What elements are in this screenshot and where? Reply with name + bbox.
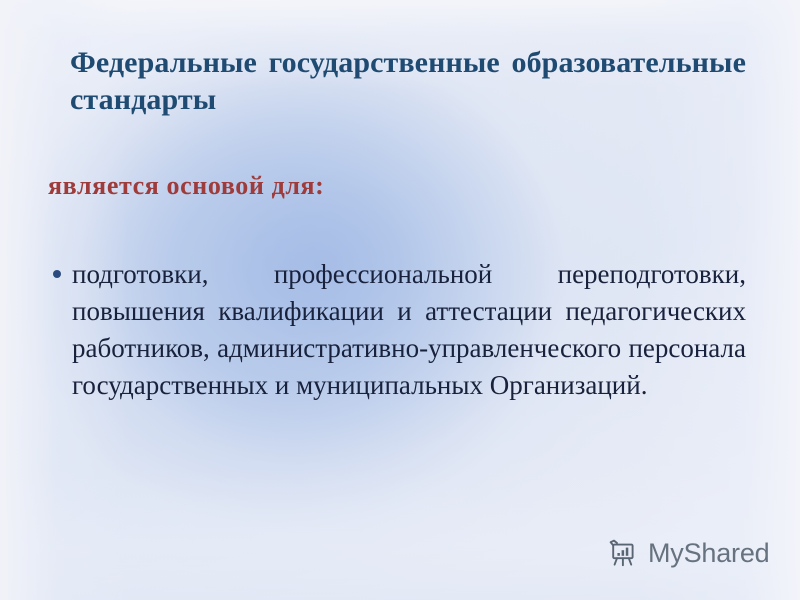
list-item-text: подготовки, профессиональной переподгото… bbox=[72, 256, 746, 404]
myshared-watermark: MyShared bbox=[606, 536, 769, 570]
slide-canvas: Федеральные государственные образователь… bbox=[0, 0, 800, 600]
slide-subtitle: является основой для: bbox=[48, 170, 324, 202]
myshared-watermark-label: MyShared bbox=[648, 538, 769, 568]
slide-title: Федеральные государственные образователь… bbox=[70, 44, 746, 118]
presentation-board-chart-icon bbox=[606, 536, 640, 570]
list-item: подготовки, профессиональной переподгото… bbox=[44, 256, 746, 404]
bullet-list: подготовки, профессиональной переподгото… bbox=[44, 256, 746, 404]
slide-content: Федеральные государственные образователь… bbox=[0, 0, 800, 600]
bullet-dot-icon bbox=[53, 270, 61, 278]
